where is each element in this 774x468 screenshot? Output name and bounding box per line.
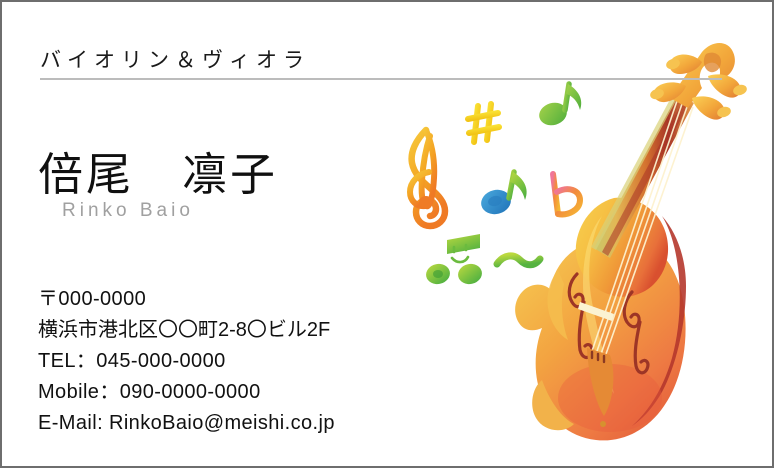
- contact-email: E-Mail: RinkoBaio@meishi.co.jp: [38, 408, 335, 439]
- wave-tilde-icon: [497, 256, 540, 265]
- contact-postal-code: 〒000-0000: [38, 284, 335, 315]
- person-name-japanese: 倍尾 凛子: [38, 138, 278, 203]
- violin-endpin: [600, 421, 606, 427]
- violin-bridge: [578, 302, 614, 321]
- header-divider: [40, 78, 722, 80]
- flat-icon: [553, 174, 580, 214]
- business-card: バイオリン＆ヴィオラ 倍尾 凛子 Rinko Baio 〒000-0000 横浜…: [0, 0, 774, 468]
- eighth-note-green-icon: [537, 84, 582, 128]
- violin-illustration: [515, 43, 748, 440]
- violin-chinrest: [532, 380, 574, 430]
- contact-tel: TEL：045-000-0000: [38, 346, 335, 377]
- violin-f-holes: [569, 274, 648, 373]
- violin-scroll: [649, 43, 748, 120]
- sharp-icon: [468, 104, 499, 142]
- person-name-romaji: Rinko Baio: [62, 200, 194, 222]
- contact-mobile: Mobile：090-0000-0000: [38, 377, 335, 408]
- treble-clef-icon: [410, 130, 445, 226]
- headline-instrument: バイオリン＆ヴィオラ: [40, 44, 310, 74]
- contact-block: 〒000-0000 横浜市港北区〇〇町2-8〇ビル2F TEL：045-000-…: [38, 284, 335, 439]
- smiling-beamed-note-icon: [424, 234, 484, 286]
- contact-address: 横浜市港北区〇〇町2-8〇ビル2F: [38, 315, 335, 346]
- violin-strings: [591, 98, 693, 354]
- card-inner: バイオリン＆ヴィオラ 倍尾 凛子 Rinko Baio 〒000-0000 横浜…: [2, 2, 772, 466]
- violin-neck: [591, 92, 694, 258]
- eighth-note-blue-icon: [479, 172, 527, 217]
- violin-body: [515, 198, 686, 441]
- violin-tailpiece: [587, 348, 613, 416]
- violin-fine-tuners: [592, 352, 604, 362]
